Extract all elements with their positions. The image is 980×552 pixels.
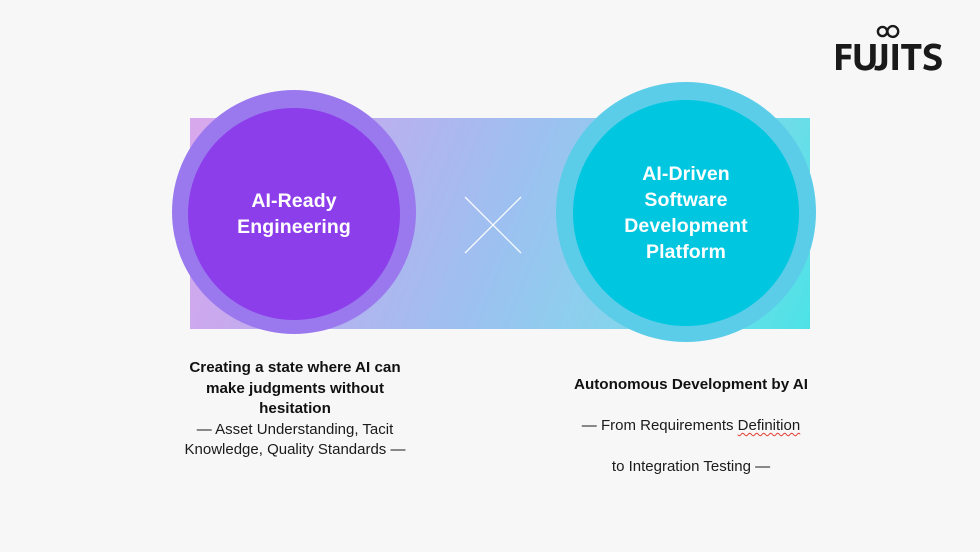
node-ai-ready-engineering[interactable]: AI-Ready Engineering	[172, 90, 416, 334]
node-label-ai-driven-platform: AI-Driven Software Development Platform	[614, 161, 758, 265]
caption-left-subtext: — Asset Understanding, Tacit Knowledge, …	[152, 420, 438, 461]
caption-right-subtext: — From Requirements Definition to Integr…	[546, 396, 836, 478]
caption-right-subtext-prefix: — From Requirements	[582, 417, 738, 434]
infinity-symbol	[878, 26, 898, 37]
fujitsu-wordmark	[836, 44, 942, 71]
fujitsu-logo	[834, 22, 946, 74]
node-label-ai-ready-engineering: AI-Ready Engineering	[227, 188, 361, 240]
caption-right: Autonomous Development by AI — From Requ…	[546, 375, 836, 478]
caption-left-heading: Creating a state where AI can make judgm…	[152, 358, 438, 420]
slide-canvas: AI-Ready Engineering AI-Driven Software …	[0, 0, 980, 552]
spellcheck-misspelled-word: Definition	[738, 417, 801, 434]
x-cross-icon	[463, 195, 523, 255]
node-inner-disc-left: AI-Ready Engineering	[188, 108, 400, 320]
node-inner-disc-right: AI-Driven Software Development Platform	[573, 100, 799, 326]
caption-right-heading: Autonomous Development by AI	[546, 375, 836, 396]
node-ai-driven-platform[interactable]: AI-Driven Software Development Platform	[556, 82, 816, 342]
caption-right-subtext-line2: to Integration Testing —	[612, 458, 770, 475]
caption-left: Creating a state where AI can make judgm…	[152, 358, 438, 461]
